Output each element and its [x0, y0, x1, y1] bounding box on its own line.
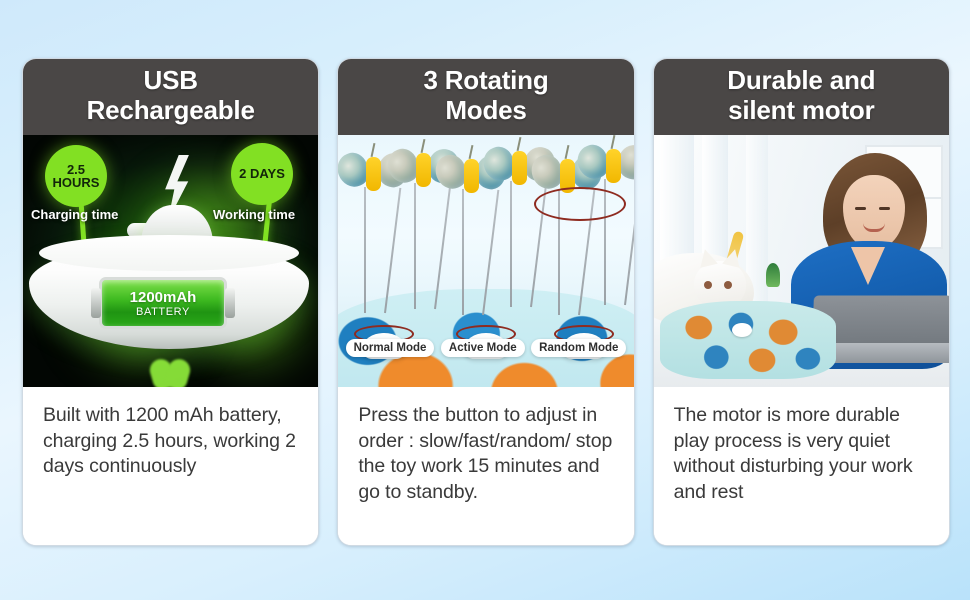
- charging-time-value: 2.5: [67, 163, 85, 176]
- card-caption-usb-rechargeable: Built with 1200 mAh battery, charging 2.…: [23, 387, 318, 545]
- woman-face: [843, 175, 905, 249]
- card-header-usb-rechargeable: USBRechargeable: [23, 59, 318, 135]
- rotation-arrow-icon: [534, 187, 626, 221]
- card-media-usb-rechargeable: 2.5 HOURS 2 DAYS Charging time Working t…: [23, 135, 318, 387]
- working-time-label: Working time: [213, 207, 295, 222]
- battery-cap-left: [91, 288, 101, 318]
- feature-highlight-board: USBRechargeable 2.5 HOURS 2 DAYS Chargin…: [0, 0, 970, 600]
- card-media-durable-silent-motor: [654, 135, 949, 387]
- plant-icon: [766, 263, 780, 287]
- toy-mat-icon: [660, 301, 836, 379]
- card-caption-rotating-modes: Press the button to adjust in order : sl…: [338, 387, 633, 545]
- card-title-line2: Rechargeable: [87, 95, 255, 125]
- mode-tag-normal[interactable]: Normal Mode: [346, 339, 435, 357]
- card-title-usb-rechargeable: USBRechargeable: [87, 66, 255, 124]
- battery-indicator: 1200mAh BATTERY: [99, 277, 227, 329]
- card-title-rotating-modes: 3 RotatingModes: [423, 66, 548, 124]
- heart-icon: [151, 359, 191, 387]
- feature-card-durable-silent-motor[interactable]: Durable andsilent motor: [653, 58, 950, 546]
- feature-card-list: USBRechargeable 2.5 HOURS 2 DAYS Chargin…: [22, 58, 950, 546]
- working-time-badge: 2 DAYS: [231, 143, 293, 205]
- card-title-line1: 3 Rotating: [423, 65, 548, 95]
- card-header-durable-silent-motor: Durable andsilent motor: [654, 59, 949, 135]
- card-title-durable-silent-motor: Durable andsilent motor: [727, 66, 875, 124]
- mode-tag-active[interactable]: Active Mode: [441, 339, 525, 357]
- battery-capacity: 1200mAh: [130, 289, 197, 306]
- card-media-rotating-modes: Normal Mode Active Mode Random Mode: [338, 135, 633, 387]
- toy-center-unit: [732, 323, 752, 337]
- working-time-value: 2 DAYS: [239, 167, 285, 180]
- card-title-line1: Durable and: [727, 65, 875, 95]
- card-caption-durable-silent-motor: The motor is more durable play process i…: [654, 387, 949, 545]
- card-caption-text: Built with 1200 mAh battery, charging 2.…: [43, 403, 302, 480]
- battery-label: BATTERY: [136, 306, 190, 318]
- charging-time-unit: HOURS: [53, 176, 100, 189]
- card-caption-text: The motor is more durable play process i…: [674, 403, 933, 506]
- feature-card-rotating-modes[interactable]: 3 RotatingModes: [337, 58, 634, 546]
- card-title-line2: silent motor: [728, 95, 874, 125]
- battery-cap-right: [225, 288, 235, 318]
- charging-time-badge: 2.5 HOURS: [45, 145, 107, 207]
- card-caption-text: Press the button to adjust in order : sl…: [358, 403, 617, 506]
- mode-tag-list: Normal Mode Active Mode Random Mode: [338, 339, 633, 357]
- card-title-line1: USB: [144, 65, 198, 95]
- charging-time-label: Charging time: [31, 207, 118, 222]
- product-base-top: [39, 235, 299, 271]
- card-header-rotating-modes: 3 RotatingModes: [338, 59, 633, 135]
- mode-tag-random[interactable]: Random Mode: [531, 339, 626, 357]
- feature-card-usb-rechargeable[interactable]: USBRechargeable 2.5 HOURS 2 DAYS Chargin…: [22, 58, 319, 546]
- card-title-line2: Modes: [445, 95, 526, 125]
